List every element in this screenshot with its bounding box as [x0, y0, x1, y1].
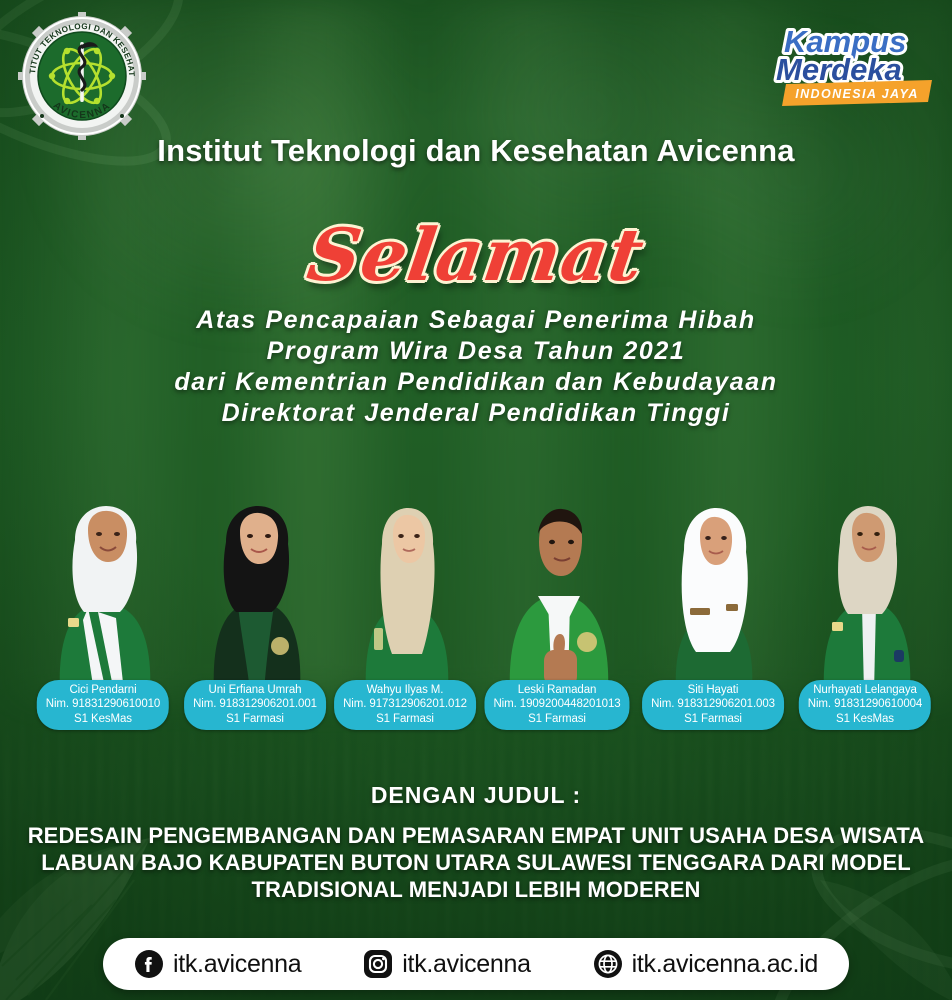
project-title-heading: DENGAN JUDUL :	[0, 782, 952, 809]
website-handle: itk.avicenna.ac.id	[632, 950, 818, 979]
student-nim: Nim. 918312906201.003	[651, 697, 775, 712]
student-photo-hijab-white-long	[638, 500, 788, 692]
student-photo-hijab-black	[180, 500, 330, 692]
student-program: S1 Farmasi	[193, 712, 317, 727]
student-nim: Nim. 1909200448201013	[493, 697, 620, 712]
greeting-headline: Selamat	[0, 212, 952, 297]
student-program: S1 KesMas	[46, 712, 160, 727]
student-badge: Siti Hayati Nim. 918312906201.003 S1 Far…	[642, 680, 784, 731]
project-title-line-2: LABUAN BAJO KABUPATEN BUTON UTARA SULAWE…	[0, 849, 952, 876]
instagram-handle: itk.avicenna	[402, 950, 530, 979]
student-name: Leski Ramadan	[493, 683, 620, 698]
social-facebook[interactable]: itk.avicenna	[134, 949, 301, 979]
student-photo-hijab-white	[28, 500, 178, 692]
social-media-bar: itk.avicenna itk.avicenna itk.avicenna.a…	[103, 938, 849, 990]
project-title-line-3: TRADISIONAL MENJADI LEBIH MODEREN	[0, 876, 952, 903]
student-name: Nurhayati Lelangaya	[808, 683, 922, 698]
student-program: S1 Farmasi	[651, 712, 775, 727]
svg-text:INDONESIA JAYA: INDONESIA JAYA	[795, 87, 919, 101]
subtitle-line-4: Direktorat Jenderal Pendidikan Tinggi	[0, 398, 952, 429]
student-photo-hijab-beige	[790, 500, 940, 692]
student-nim: Nim. 91831290610004	[808, 697, 922, 712]
student-badge: Wahyu Ilyas M. Nim. 917312906201.012 S1 …	[334, 680, 476, 731]
project-title-line-1: REDESAIN PENGEMBANGAN DAN PEMASARAN EMPA…	[0, 822, 952, 849]
subtitle-line-2: Program Wira Desa Tahun 2021	[0, 336, 952, 367]
student-name: Cici Pendarni	[46, 683, 160, 698]
student-gallery: Cici Pendarni Nim. 91831290610010 S1 Kes…	[0, 470, 952, 730]
congratulations-poster: INSTITUT TEKNOLOGI DAN KESEHATAN AVICENN…	[0, 0, 952, 1000]
student-program: S1 Farmasi	[343, 712, 467, 727]
subtitle-line-3: dari Kementrian Pendidikan dan Kebudayaa…	[0, 367, 952, 398]
student-card: Wahyu Ilyas M. Nim. 917312906201.012 S1 …	[330, 505, 480, 730]
project-title: REDESAIN PENGEMBANGAN DAN PEMASARAN EMPA…	[0, 822, 952, 903]
instagram-icon	[363, 949, 393, 979]
student-photo-male-thumbsup	[482, 500, 632, 692]
achievement-subtitle: Atas Pencapaian Sebagai Penerima Hibah P…	[0, 305, 952, 429]
student-name: Uni Erfiana Umrah	[193, 683, 317, 698]
student-card: Cici Pendarni Nim. 91831290610010 S1 Kes…	[28, 505, 178, 730]
student-name: Siti Hayati	[651, 683, 775, 698]
student-badge: Uni Erfiana Umrah Nim. 918312906201.001 …	[184, 680, 326, 731]
student-nim: Nim. 918312906201.001	[193, 697, 317, 712]
social-instagram[interactable]: itk.avicenna	[363, 949, 530, 979]
student-card: Siti Hayati Nim. 918312906201.003 S1 Far…	[638, 505, 788, 730]
student-card: Nurhayati Lelangaya Nim. 91831290610004 …	[790, 505, 940, 730]
student-badge: Cici Pendarni Nim. 91831290610010 S1 Kes…	[37, 680, 169, 731]
kampus-merdeka-logo-icon: Kampus Kampus Merdeka Merdeka INDONESIA …	[766, 18, 938, 110]
social-website[interactable]: itk.avicenna.ac.id	[593, 949, 818, 979]
facebook-icon	[134, 949, 164, 979]
km-ribbon: INDONESIA JAYA	[782, 80, 932, 106]
student-badge: Leski Ramadan Nim. 1909200448201013 S1 F…	[484, 680, 629, 731]
facebook-handle: itk.avicenna	[173, 950, 301, 979]
student-photo-hijab-cream	[330, 500, 480, 692]
page-title: Institut Teknologi dan Kesehatan Avicenn…	[0, 133, 952, 169]
student-badge: Nurhayati Lelangaya Nim. 91831290610004 …	[799, 680, 931, 731]
globe-icon	[593, 949, 623, 979]
student-program: S1 KesMas	[808, 712, 922, 727]
student-card: Uni Erfiana Umrah Nim. 918312906201.001 …	[180, 505, 330, 730]
student-program: S1 Farmasi	[493, 712, 620, 727]
itk-avicenna-seal-icon: INSTITUT TEKNOLOGI DAN KESEHATAN AVICENN…	[18, 12, 146, 140]
student-nim: Nim. 91831290610010	[46, 697, 160, 712]
subtitle-line-1: Atas Pencapaian Sebagai Penerima Hibah	[0, 305, 952, 336]
student-nim: Nim. 917312906201.012	[343, 697, 467, 712]
student-card: Leski Ramadan Nim. 1909200448201013 S1 F…	[482, 505, 632, 730]
student-name: Wahyu Ilyas M.	[343, 683, 467, 698]
